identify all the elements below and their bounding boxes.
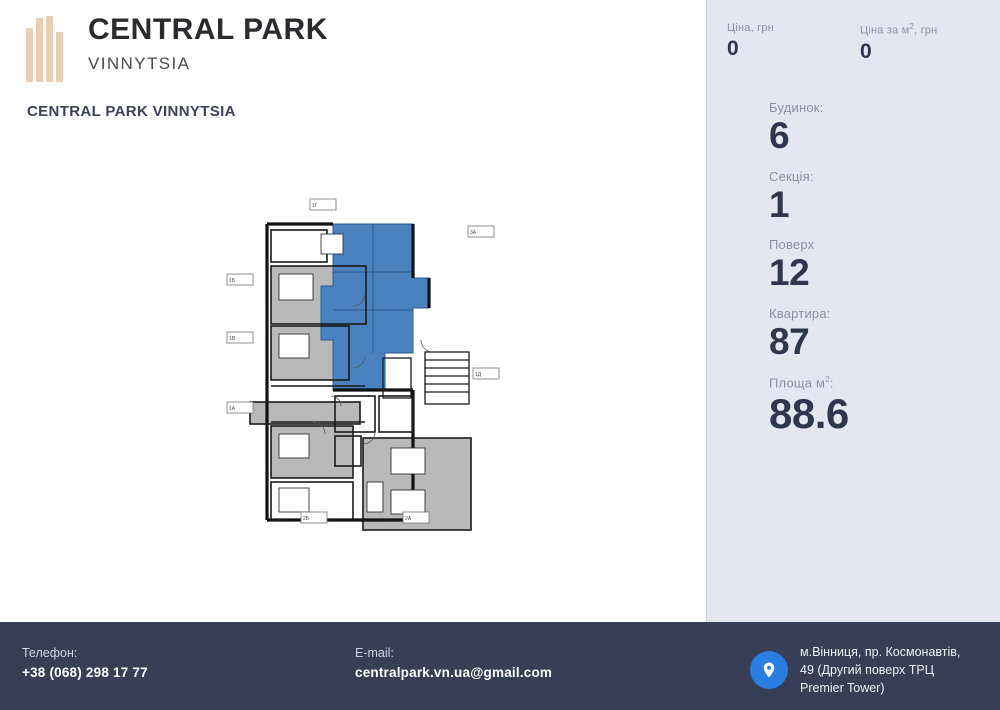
price-per-sqm: Ціна за м2, грн 0 [860, 22, 993, 62]
price-per-sqm-value: 0 [860, 41, 993, 62]
footer-email-label: E-mail: [355, 646, 552, 660]
page-root: CENTRAL PARK VINNYTSIA CENTRAL PARK VINN… [0, 0, 1000, 710]
footer-address[interactable]: м.Вінниця, пр. Космонавтів, 49 (Другий п… [750, 643, 990, 697]
footer-phone-value[interactable]: +38 (068) 298 17 77 [22, 665, 148, 680]
price-total-label: Ціна, грн [727, 22, 860, 34]
svg-text:1А: 1А [229, 406, 236, 412]
spec-area-label: Площа м2: [769, 375, 1000, 390]
brand-title: CENTRAL PARK [88, 14, 328, 46]
footer-email-value[interactable]: centralpark.vn.ua@gmail.com [355, 665, 552, 680]
svg-text:1Г: 1Г [312, 203, 318, 209]
spec-area: Площа м2: 88.6 [769, 375, 1000, 438]
price-per-sqm-label-suffix: , грн [914, 25, 937, 37]
svg-text:1Б: 1Б [229, 278, 236, 284]
price-total-value: 0 [727, 38, 860, 59]
svg-text:3А: 3А [470, 230, 477, 236]
apartment-info-panel: Ціна, грн 0 Ціна за м2, грн 0 Будинок: 6… [706, 0, 1000, 622]
spec-floor-label: Поверх [769, 237, 1000, 252]
brand-text: CENTRAL PARK VINNYTSIA [88, 12, 328, 74]
svg-text:2А: 2А [405, 516, 412, 522]
address-line-2: 49 (Другий поверх ТРЦ [800, 661, 960, 679]
spec-area-value: 88.6 [769, 391, 1000, 437]
spec-apartment-value: 87 [769, 322, 1000, 363]
spec-building: Будинок: 6 [769, 100, 1000, 157]
floor-plan-drawing[interactable]: 1Г 3А 1Б 1В 1А 1Д 2Б 2А [215, 190, 515, 535]
spec-list: Будинок: 6 Секція: 1 Поверх 12 Квартира:… [707, 100, 1000, 449]
spec-area-label-prefix: Площа м [769, 375, 825, 390]
four-bars-logo-icon [26, 16, 70, 82]
brand-block: CENTRAL PARK VINNYTSIA [26, 12, 328, 82]
footer-phone: Телефон: +38 (068) 298 17 77 [22, 646, 148, 680]
spec-apartment-label: Квартира: [769, 306, 1000, 321]
floor-plan[interactable]: 1Г 3А 1Б 1В 1А 1Д 2Б 2А [215, 190, 515, 535]
spec-section-label: Секція: [769, 169, 1000, 184]
footer-address-text: м.Вінниця, пр. Космонавтів, 49 (Другий п… [800, 643, 960, 697]
price-row: Ціна, грн 0 Ціна за м2, грн 0 [707, 22, 1000, 62]
price-per-sqm-label: Ціна за м2, грн [860, 22, 993, 37]
brand-subtitle: VINNYTSIA [88, 54, 328, 74]
svg-text:2Б: 2Б [303, 516, 310, 522]
svg-text:1В: 1В [229, 336, 236, 342]
spec-apartment: Квартира: 87 [769, 306, 1000, 363]
svg-text:1Д: 1Д [475, 372, 482, 378]
spec-area-label-suffix: : [830, 375, 834, 390]
footer-email: E-mail: centralpark.vn.ua@gmail.com [355, 646, 552, 680]
address-line-1: м.Вінниця, пр. Космонавтів, [800, 643, 960, 661]
main-content-area: CENTRAL PARK VINNYTSIA CENTRAL PARK VINN… [0, 0, 706, 622]
spec-section: Секція: 1 [769, 169, 1000, 226]
footer-phone-label: Телефон: [22, 646, 148, 660]
price-per-sqm-label-prefix: Ціна за м [860, 25, 909, 37]
map-pin-icon[interactable] [750, 651, 788, 689]
spec-floor-value: 12 [769, 253, 1000, 294]
spec-building-label: Будинок: [769, 100, 1000, 115]
spec-section-value: 1 [769, 185, 1000, 226]
footer: Телефон: +38 (068) 298 17 77 E-mail: cen… [0, 622, 1000, 710]
spec-building-value: 6 [769, 116, 1000, 157]
spec-floor: Поверх 12 [769, 237, 1000, 294]
page-title: CENTRAL PARK VINNYTSIA [27, 103, 236, 120]
address-line-3: Premier Tower) [800, 679, 960, 697]
price-total: Ціна, грн 0 [727, 22, 860, 62]
